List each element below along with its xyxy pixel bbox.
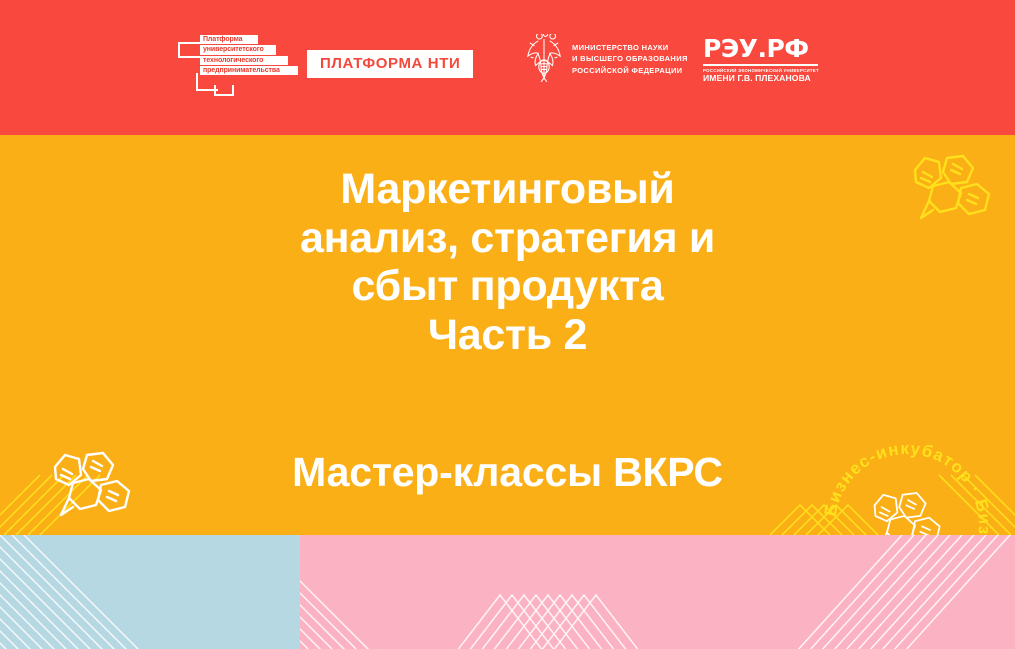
title-line-2: анализ, стратегия и [0,214,1015,263]
logo-platform-univ-tech: Платформа университетского технологическ… [178,35,298,95]
page-subtitle: Мастер-классы ВКРС [0,450,1015,495]
footer-strip-pink [300,535,1015,649]
ministry-text: МИНИСТЕРСТВО НАУКИ И ВЫСШЕГО ОБРАЗОВАНИЯ… [572,42,688,77]
reu-tiny-line: РОССИЙСКИЙ ЭКОНОМИЧЕСКИЙ УНИВЕРСИТЕТ [703,68,820,73]
pink-strip-pattern [300,535,1015,649]
page-title: Маркетинговый анализ, стратегия и сбыт п… [0,165,1015,359]
double-headed-eagle-icon [525,34,563,84]
hexagon-cluster-icon-badge [875,493,940,535]
logo-line-3: технологического [200,56,288,65]
title-line-4: Часть 2 [0,311,1015,360]
logo-line-2: университетского [200,45,276,54]
ministry-line-2: И ВЫСШЕГО ОБРАЗОВАНИЯ [572,53,688,65]
blue-strip-pattern [0,535,300,649]
ministry-line-3: РОССИЙСКОЙ ФЕДЕРАЦИИ [572,65,688,77]
ministry-line-1: МИНИСТЕРСТВО НАУКИ [572,42,688,54]
logo-text-stack: Платформа университетского технологическ… [200,35,298,76]
slide-body: Бизнес-инкубатор · Бизнес-инкубатор · Ма… [0,135,1015,535]
footer-strip-blue [0,535,300,649]
logo-reu-rf: РЭУ.РФ РОССИЙСКИЙ ЭКОНОМИЧЕСКИЙ УНИВЕРСИ… [703,36,818,84]
title-line-3: сбыт продукта [0,262,1015,311]
logo-platform-nti: ПЛАТФОРМА НТИ [307,50,473,78]
logo-step-shape-3 [214,85,234,96]
title-line-1: Маркетинговый [0,165,1015,214]
reu-title: РЭУ.РФ [703,36,818,61]
slide-header: Платформа университетского технологическ… [0,0,1015,135]
reu-sub-line: ИМЕНИ Г.В. ПЛЕХАНОВА [703,74,818,84]
title-block: Маркетинговый анализ, стратегия и сбыт п… [0,135,1015,359]
logo-line-1: Платформа [200,35,258,44]
logo-line-4: предпринимательства [200,66,298,75]
logo-ministry: МИНИСТЕРСТВО НАУКИ И ВЫСШЕГО ОБРАЗОВАНИЯ… [525,34,688,84]
presentation-slide: Платформа университетского технологическ… [0,0,1015,649]
logo-row: Платформа университетского технологическ… [0,0,1015,135]
reu-divider [703,64,818,66]
